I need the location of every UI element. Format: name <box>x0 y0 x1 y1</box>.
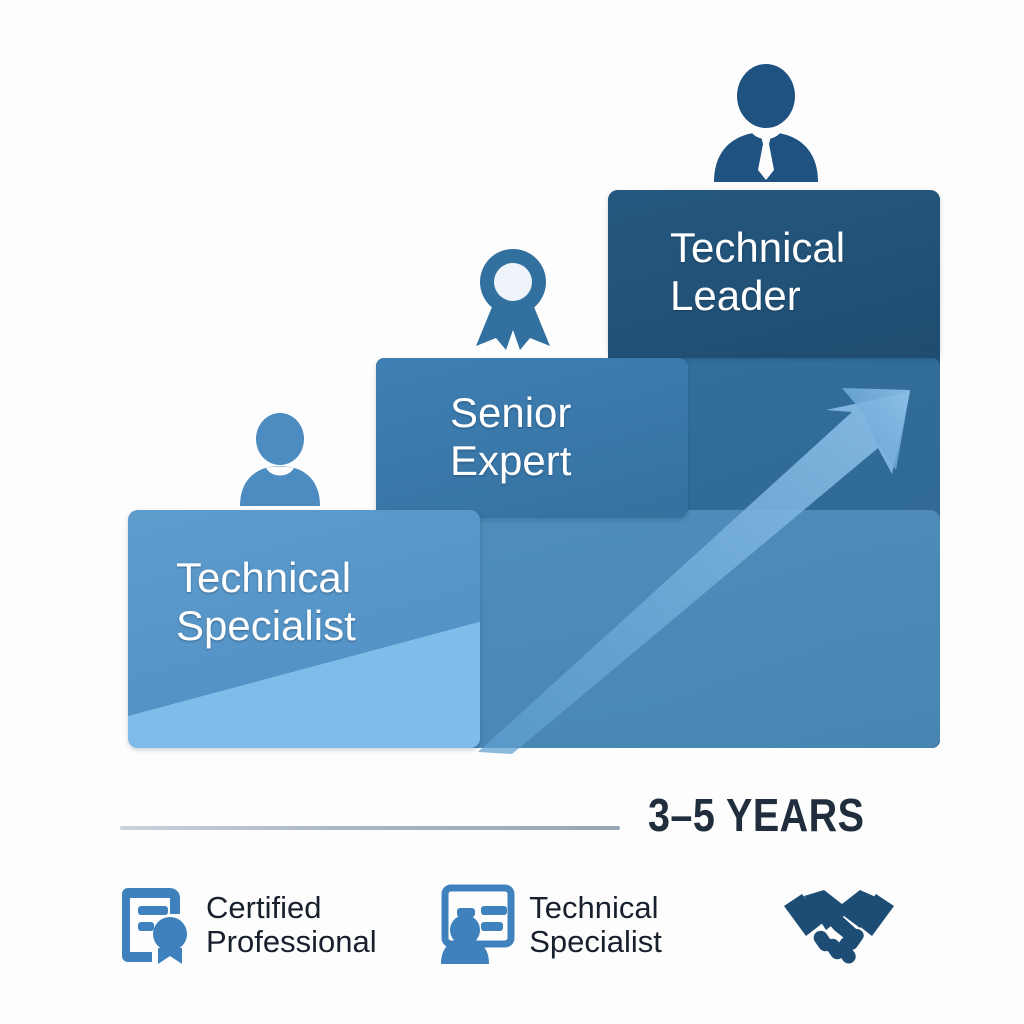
timeline-rule <box>120 826 620 830</box>
step-card-senior-expert[interactable]: Senior Expert <box>376 358 688 518</box>
step-card-technical-leader[interactable]: Technical Leader <box>608 190 940 358</box>
handshake-icon <box>780 884 898 964</box>
credential-label-certified-professional: Certified Professional <box>206 891 377 959</box>
credential-label-technical-specialist: Technical Specialist <box>529 891 662 959</box>
businessman-icon <box>706 60 826 186</box>
id-badge-icon <box>439 884 515 966</box>
credential-technical-specialist[interactable]: Technical Specialist <box>439 884 738 966</box>
step-label-senior-expert: Senior Expert <box>376 389 571 485</box>
timeline-duration-label: 3–5 YEARS <box>648 788 864 842</box>
person-icon <box>228 406 332 510</box>
certificate-seal-icon <box>120 884 192 966</box>
step-label-technical-leader: Technical Leader <box>608 224 845 320</box>
step-card-technical-specialist[interactable]: Technical Specialist <box>128 510 480 748</box>
credential-partnership[interactable] <box>738 884 950 964</box>
career-progression-infographic: Technical Leader Senior Expert Technical… <box>0 0 1024 1024</box>
timeline: 3–5 YEARS <box>120 783 920 847</box>
credentials-row: Certified Professional Technical Special… <box>120 884 950 994</box>
step-label-technical-specialist: Technical Specialist <box>128 554 356 650</box>
credential-certified-professional[interactable]: Certified Professional <box>120 884 419 966</box>
award-ribbon-icon <box>458 240 568 350</box>
